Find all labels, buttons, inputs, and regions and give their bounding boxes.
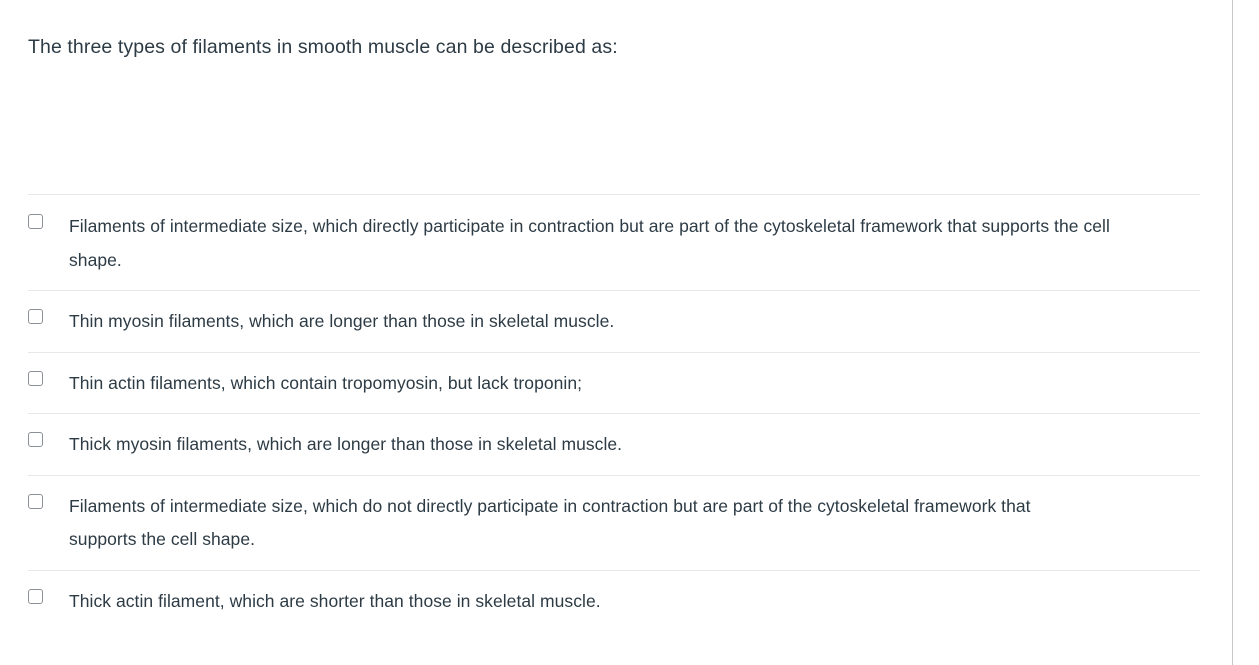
answer-option-label: Thick actin filament, which are shorter … [69,585,601,619]
right-panel-divider [1232,0,1233,665]
checkbox-icon[interactable] [28,432,43,447]
answer-option-row[interactable]: Thin actin filaments, which contain trop… [28,352,1200,414]
answer-option-label: Thick myosin filaments, which are longer… [69,428,622,462]
answer-option-label: Thin myosin filaments, which are longer … [69,305,614,339]
answer-option-row[interactable]: Thick myosin filaments, which are longer… [28,413,1200,475]
answer-option-label: Thin actin filaments, which contain trop… [69,367,582,401]
checkbox-icon[interactable] [28,309,43,324]
checkbox-icon[interactable] [28,371,43,386]
answer-option-row[interactable]: Filaments of intermediate size, which do… [28,475,1200,570]
answer-option-row[interactable]: Thick actin filament, which are shorter … [28,570,1200,632]
question-prompt: The three types of filaments in smooth m… [28,33,1168,61]
checkbox-icon[interactable] [28,589,43,604]
answer-option-label: Filaments of intermediate size, which di… [69,210,1127,277]
checkbox-icon[interactable] [28,494,43,509]
checkbox-icon[interactable] [28,214,43,229]
answer-options-list: Filaments of intermediate size, which di… [28,194,1200,631]
answer-option-row[interactable]: Filaments of intermediate size, which di… [28,194,1200,290]
answer-option-row[interactable]: Thin myosin filaments, which are longer … [28,290,1200,352]
answer-option-label: Filaments of intermediate size, which do… [69,490,1069,557]
quiz-question-page: The three types of filaments in smooth m… [0,0,1259,665]
